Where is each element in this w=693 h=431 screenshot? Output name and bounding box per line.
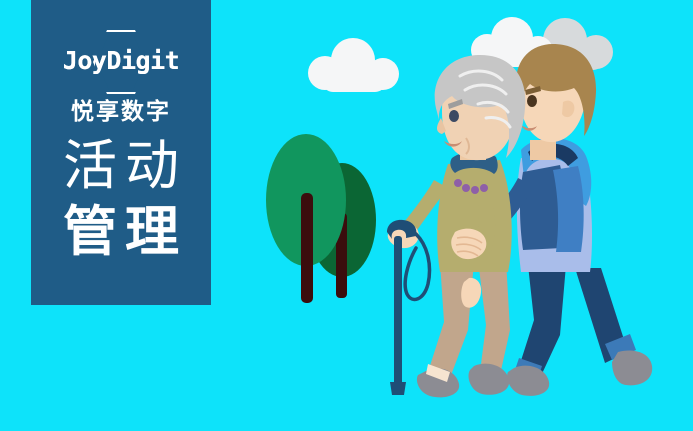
brand-wordmark: JoyDigit	[31, 46, 211, 75]
cane-tip	[390, 382, 406, 395]
man-eye	[527, 95, 537, 107]
poster-canvas: JoyDigit 悦享数字 活动 管理	[0, 0, 693, 431]
man-neck	[530, 140, 556, 160]
page-title-line2: 管理	[31, 199, 211, 265]
brand-subtitle: 悦享数字	[31, 92, 211, 126]
cane-shaft	[394, 236, 402, 388]
brand-logo: JoyDigit 悦享数字	[31, 30, 211, 130]
woman-eye	[449, 110, 459, 122]
woman-right-hand	[451, 229, 486, 259]
page-title: 活动 管理	[31, 133, 211, 265]
left-title-panel: JoyDigit 悦享数字 活动 管理	[31, 0, 211, 305]
page-title-line1: 活动	[31, 133, 211, 199]
man-back-shoe	[612, 351, 652, 386]
